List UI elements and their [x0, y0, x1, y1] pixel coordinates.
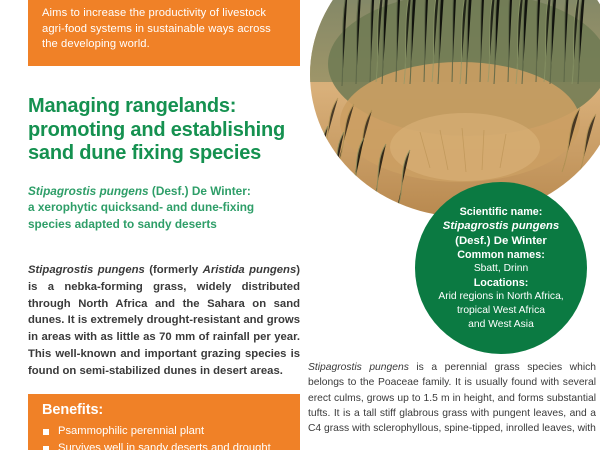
left-body-paragraph: Stipagrostis pungens (formerly Aristida …: [28, 262, 300, 380]
common-names-value: Sbatt, Drinn: [474, 262, 528, 276]
subtitle-authority: (Desf.) De Winter:: [149, 184, 251, 198]
locations-value-line-1: Arid regions in North Africa,: [438, 290, 563, 304]
body-former-species-name: Aristida pungens: [203, 264, 297, 276]
page-title: Managing rangelands: promoting and estab…: [28, 95, 296, 166]
benefits-list-item: Psammophilic perennial plant: [42, 423, 286, 440]
aims-banner-text: Aims to increase the productivity of liv…: [42, 6, 286, 53]
dune-grass-photo: [310, 0, 600, 217]
scientific-name-authority: (Desf.) De Winter: [455, 234, 547, 248]
benefits-item-label: Survives well in sandy deserts and droug…: [58, 442, 271, 450]
benefits-box: Benefits: Psammophilic perennial plant S…: [28, 394, 300, 450]
locations-value-line-2: tropical West Africa: [457, 304, 545, 318]
square-bullet-icon: [43, 446, 49, 450]
page-title-line-3: sand dune fixing species: [28, 142, 296, 166]
square-bullet-icon: [43, 429, 49, 435]
aims-banner: Aims to increase the productivity of liv…: [28, 0, 300, 66]
subtitle: Stipagrostis pungens (Desf.) De Winter: …: [28, 183, 300, 232]
right-body-species-name: Stipagrostis pungens: [308, 362, 409, 373]
page-title-line-2: promoting and establishing: [28, 119, 296, 143]
subtitle-line-1: Stipagrostis pungens (Desf.) De Winter:: [28, 183, 300, 199]
right-column: Scientific name: Stipagrostis pungens (D…: [306, 0, 600, 450]
brochure-page: Aims to increase the productivity of liv…: [0, 0, 600, 450]
locations-label: Locations:: [474, 276, 529, 290]
subtitle-line-3: species adapted to sandy deserts: [28, 216, 300, 232]
benefits-list: Psammophilic perennial plant Survives we…: [42, 423, 286, 450]
left-column: Aims to increase the productivity of liv…: [0, 0, 306, 450]
body-former-prefix: (formerly: [145, 264, 203, 276]
subtitle-species-name: Stipagrostis pungens: [28, 184, 149, 198]
subtitle-line-2: a xerophytic quicksand- and dune-fixing: [28, 199, 300, 215]
scientific-name-label: Scientific name:: [460, 205, 543, 219]
species-info-circle: Scientific name: Stipagrostis pungens (D…: [415, 182, 587, 354]
right-body-paragraph: Stipagrostis pungens is a perennial gras…: [308, 360, 596, 436]
body-species-name: Stipagrostis pungens: [28, 264, 145, 276]
photo-image: [310, 0, 600, 217]
scientific-name-value: Stipagrostis pungens: [443, 219, 559, 233]
common-names-label: Common names:: [457, 248, 545, 262]
benefits-item-label: Psammophilic perennial plant: [58, 425, 204, 437]
body-text: ) is a nebka-forming grass, widely distr…: [28, 264, 300, 377]
benefits-list-item: Survives well in sandy deserts and droug…: [42, 440, 286, 450]
page-title-line-1: Managing rangelands:: [28, 95, 296, 119]
benefits-heading: Benefits:: [42, 401, 286, 420]
locations-value-line-3: and West Asia: [468, 318, 534, 332]
